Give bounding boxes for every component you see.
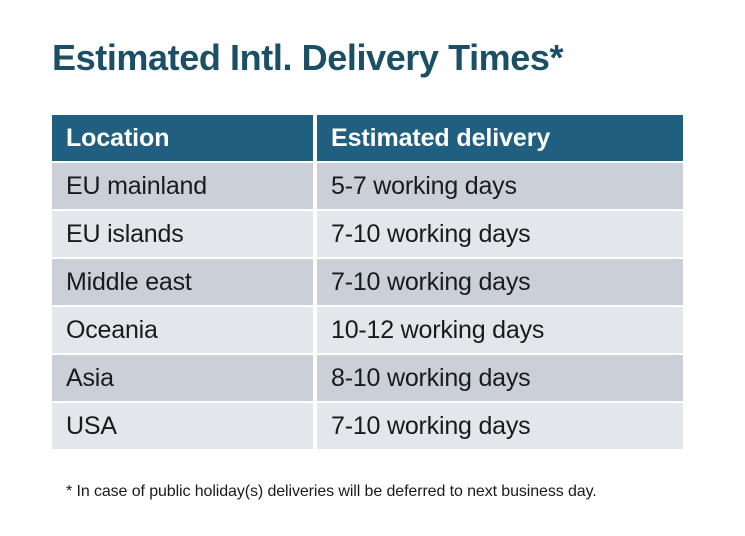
table-row: Oceania 10-12 working days [52, 307, 683, 353]
table-header: Location Estimated delivery [52, 115, 683, 161]
table-row: EU islands 7-10 working days [52, 211, 683, 257]
cell-location: EU islands [52, 211, 313, 257]
page-title: Estimated Intl. Delivery Times* [52, 36, 563, 80]
table-header-row: Location Estimated delivery [52, 115, 683, 161]
cell-estimated-delivery: 10-12 working days [317, 307, 683, 353]
table-body: EU mainland 5-7 working days EU islands … [52, 163, 683, 449]
column-header-estimated-delivery: Estimated delivery [317, 115, 683, 161]
footnote-text: * In case of public holiday(s) deliverie… [66, 481, 597, 503]
delivery-times-page: Estimated Intl. Delivery Times* Location… [0, 0, 745, 536]
cell-estimated-delivery: 5-7 working days [317, 163, 683, 209]
table-row: Middle east 7-10 working days [52, 259, 683, 305]
cell-location: EU mainland [52, 163, 313, 209]
table-row: USA 7-10 working days [52, 403, 683, 449]
cell-location: Asia [52, 355, 313, 401]
cell-estimated-delivery: 7-10 working days [317, 403, 683, 449]
table-row: Asia 8-10 working days [52, 355, 683, 401]
cell-estimated-delivery: 8-10 working days [317, 355, 683, 401]
delivery-times-table: Location Estimated delivery EU mainland … [48, 113, 687, 451]
cell-estimated-delivery: 7-10 working days [317, 259, 683, 305]
cell-location: Oceania [52, 307, 313, 353]
cell-location: USA [52, 403, 313, 449]
cell-location: Middle east [52, 259, 313, 305]
cell-estimated-delivery: 7-10 working days [317, 211, 683, 257]
column-header-location: Location [52, 115, 313, 161]
table-row: EU mainland 5-7 working days [52, 163, 683, 209]
